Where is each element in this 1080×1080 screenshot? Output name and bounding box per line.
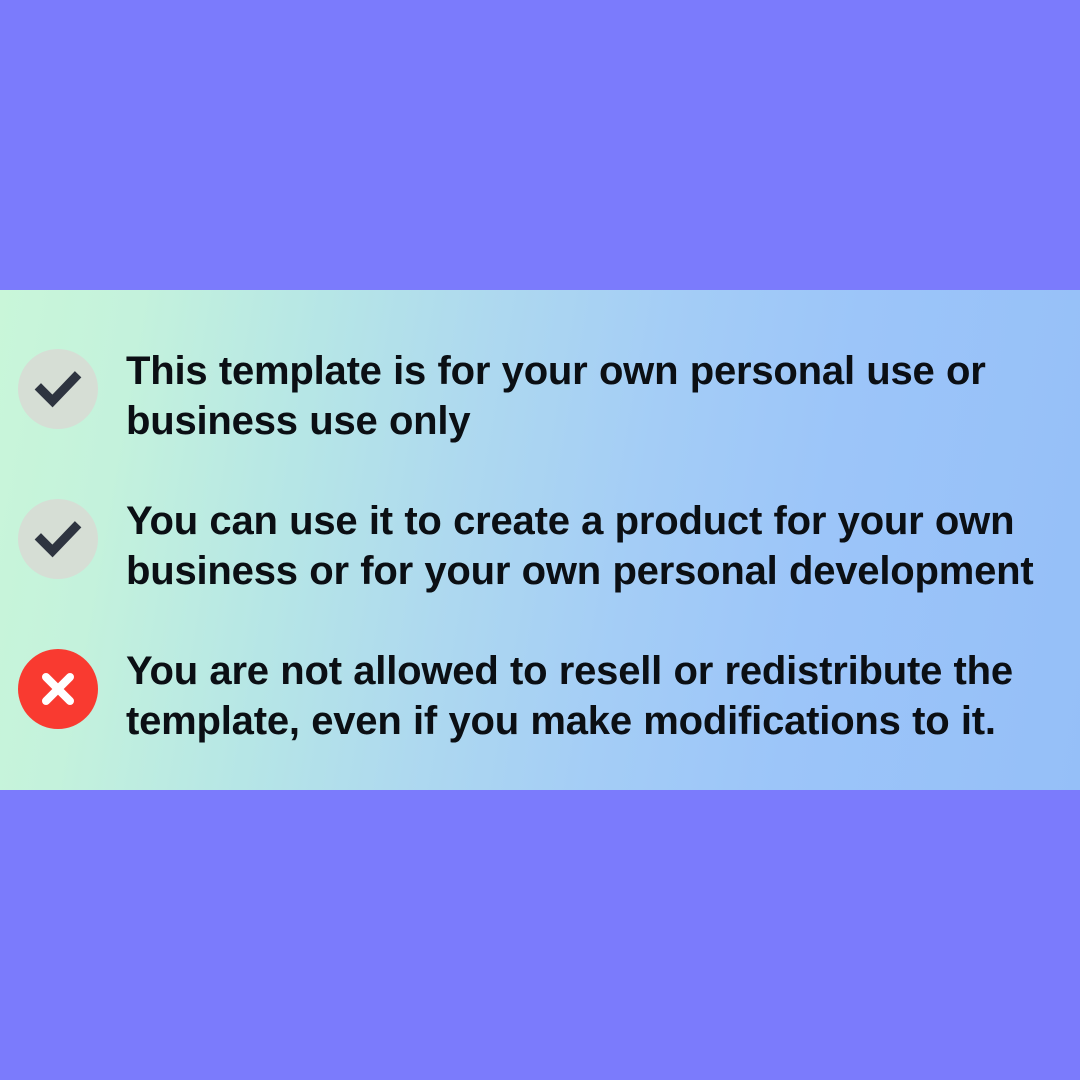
check-badge <box>18 499 98 579</box>
check-icon <box>33 364 83 414</box>
term-text: This template is for your own personal u… <box>126 345 1064 447</box>
check-badge <box>18 349 98 429</box>
terms-panel: This template is for your own personal u… <box>0 290 1080 790</box>
slide-canvas: This template is for your own personal u… <box>0 0 1080 1080</box>
cross-badge <box>18 649 98 729</box>
cross-icon <box>36 667 80 711</box>
list-item: You can use it to create a product for y… <box>18 495 1064 597</box>
check-icon <box>33 514 83 564</box>
terms-list: This template is for your own personal u… <box>0 290 1080 790</box>
list-item: You are not allowed to resell or redistr… <box>18 645 1064 747</box>
list-item: This template is for your own personal u… <box>18 345 1064 447</box>
term-text: You are not allowed to resell or redistr… <box>126 645 1064 747</box>
term-text: You can use it to create a product for y… <box>126 495 1064 597</box>
